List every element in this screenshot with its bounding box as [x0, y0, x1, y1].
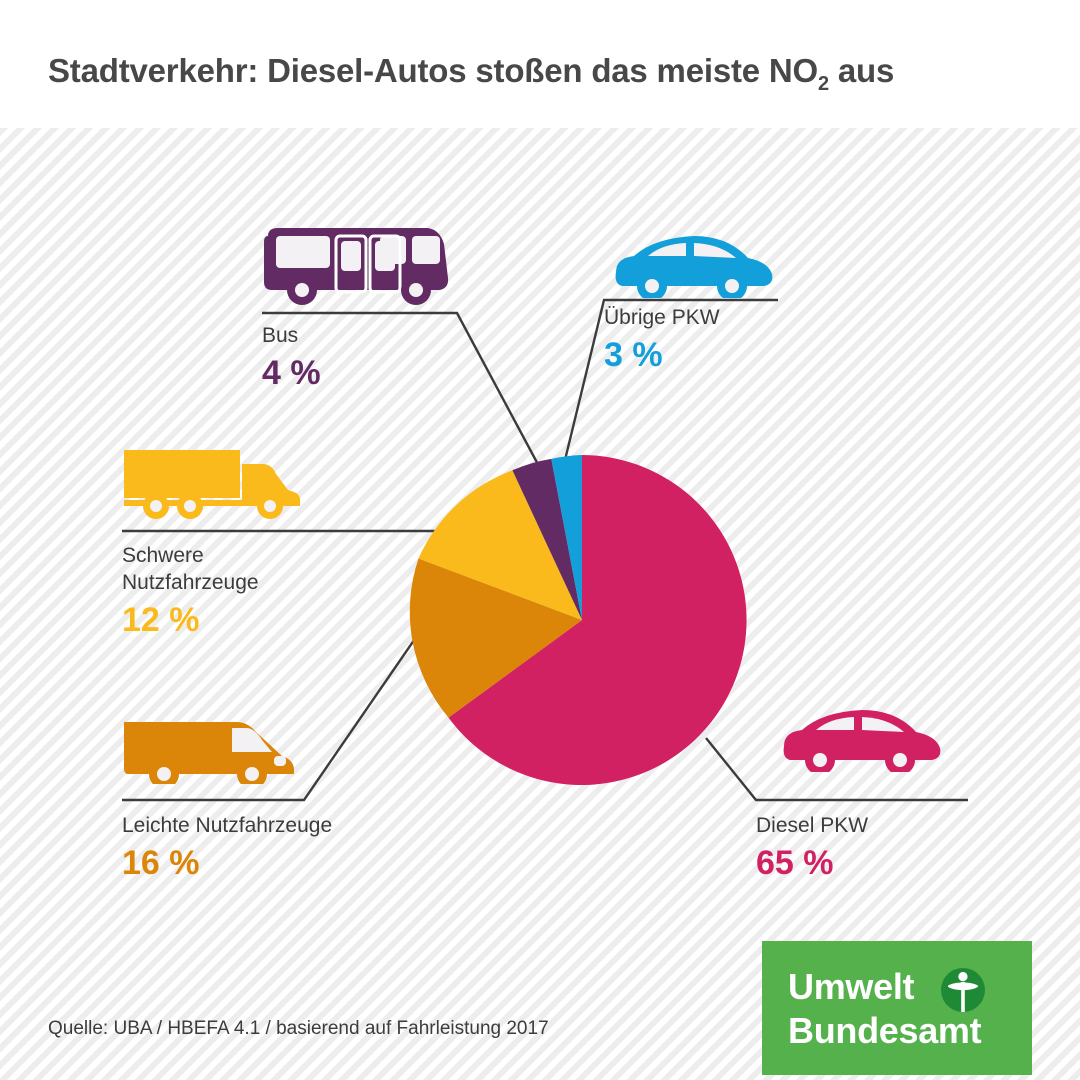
car-icon-uebrige: [608, 232, 778, 303]
callout-uebrige-pkw: Übrige PKW 3 %: [604, 304, 720, 375]
van-icon: [122, 712, 297, 789]
page-title-subscript: 2: [818, 73, 829, 95]
callout-value-bus: 4 %: [262, 353, 321, 393]
callout-schwere-nutzfahrzeuge: Schwere Nutzfahrzeuge 12 %: [122, 542, 259, 640]
callout-value-leichte-nutzfahrzeuge: 16 %: [122, 843, 332, 883]
bus-icon: [262, 222, 452, 315]
page-title: Stadtverkehr: Diesel-Autos stoßen das me…: [48, 52, 894, 90]
umweltbundesamt-logo[interactable]: Umwelt Bundesamt: [762, 941, 1032, 1075]
callout-label-diesel-pkw: Diesel PKW: [756, 812, 868, 839]
callout-diesel-pkw: Diesel PKW 65 %: [756, 812, 868, 883]
callout-value-diesel-pkw: 65 %: [756, 843, 868, 883]
umweltbundesamt-figure-icon: [940, 967, 986, 1013]
source-note: Quelle: UBA / HBEFA 4.1 / basierend auf …: [48, 1018, 549, 1040]
callout-label-uebrige-pkw: Übrige PKW: [604, 304, 720, 331]
page-title-main: Stadtverkehr: Diesel-Autos stoßen das me…: [48, 52, 818, 89]
callout-value-schwere-nutzfahrzeuge: 12 %: [122, 600, 259, 640]
truck-icon: [122, 448, 302, 525]
callout-leichte-nutzfahrzeuge: Leichte Nutzfahrzeuge 16 %: [122, 812, 332, 883]
callout-value-uebrige-pkw: 3 %: [604, 335, 720, 375]
callout-label-bus: Bus: [262, 322, 321, 349]
page-title-tail: aus: [829, 52, 894, 89]
callout-label-leichte-nutzfahrzeuge: Leichte Nutzfahrzeuge: [122, 812, 332, 839]
header-bar: Stadtverkehr: Diesel-Autos stoßen das me…: [0, 0, 1080, 128]
infographic-root: Stadtverkehr: Diesel-Autos stoßen das me…: [0, 0, 1080, 1080]
callout-bus: Bus 4 %: [262, 322, 321, 393]
car-icon-diesel: [776, 706, 946, 777]
callout-label-schwere-nutzfahrzeuge: Schwere Nutzfahrzeuge: [122, 542, 259, 596]
